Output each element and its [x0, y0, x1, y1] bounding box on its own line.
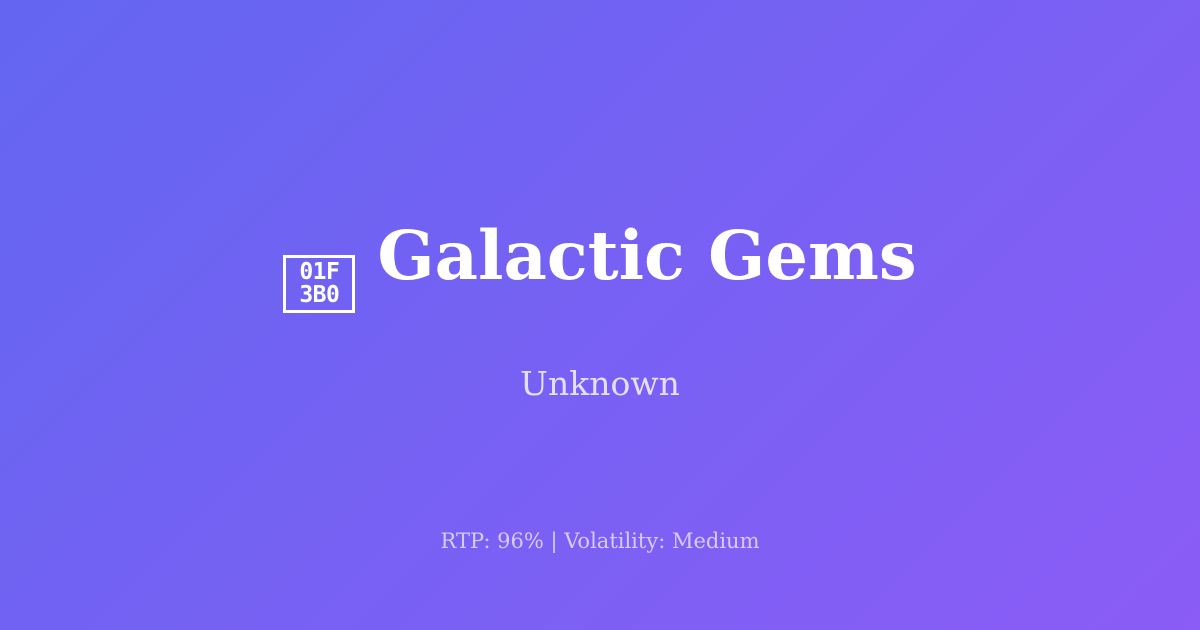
emoji-codepoint-top: 01F [299, 261, 339, 284]
slot-machine-emoji-icon: 01F 3B0 [283, 255, 355, 313]
emoji-codepoint-bottom: 3B0 [299, 284, 339, 307]
title-row: 01F 3B0 Galactic Gems [283, 222, 916, 313]
game-stats-meta: RTP: 96% | Volatility: Medium [0, 529, 1200, 554]
page-title: Galactic Gems [377, 222, 916, 289]
provider-subtitle: Unknown [0, 364, 1200, 404]
og-share-card: 01F 3B0 Galactic Gems Unknown RTP: 96% |… [0, 0, 1200, 630]
